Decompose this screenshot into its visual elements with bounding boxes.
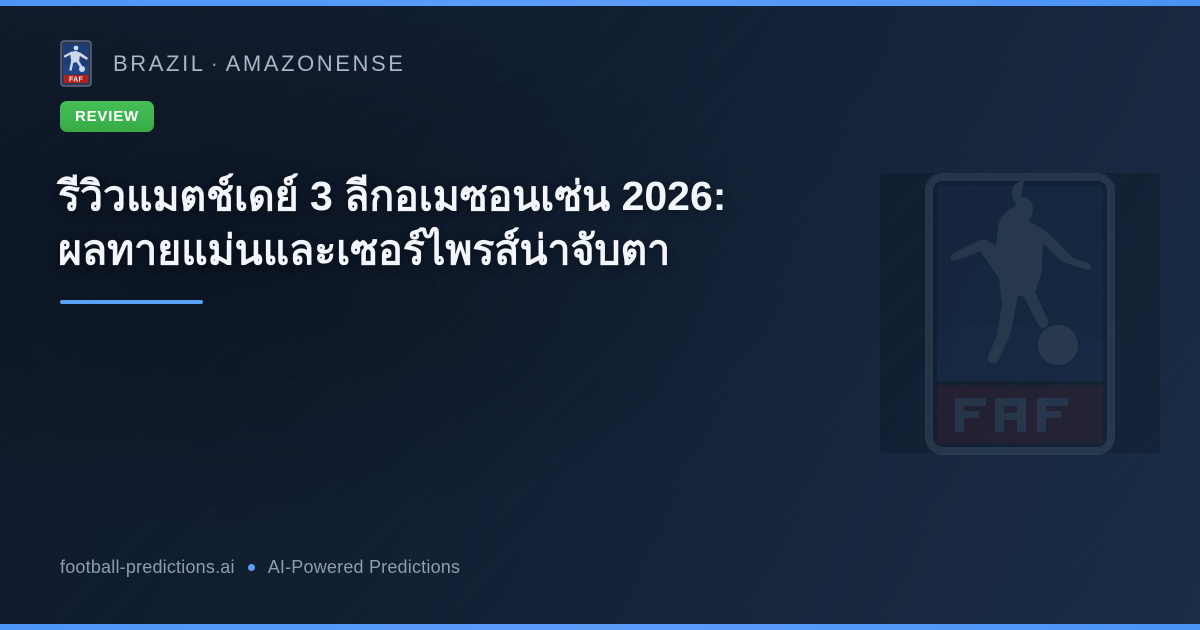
status-badge: REVIEW (60, 101, 154, 132)
dot-separator-icon (248, 564, 255, 571)
footer-tagline: AI-Powered Predictions (268, 557, 461, 578)
page-title-line-1: รีวิวแมตช์เดย์ 3 ลีกอเมซอนเซ่น 2026: (58, 169, 858, 223)
breadcrumb-competition: AMAZONENSE (226, 51, 406, 76)
breadcrumb-label: BRAZIL·AMAZONENSE (113, 51, 406, 77)
page-title-line-2: ผลทายแม่นและเซอร์ไพรส์น่าจับตา (58, 223, 858, 277)
top-accent-bar (0, 0, 1200, 6)
breadcrumb-country: BRAZIL (113, 51, 206, 76)
bottom-accent-bar (0, 624, 1200, 630)
footer: football-predictions.ai AI-Powered Predi… (60, 557, 460, 578)
title-accent-rule (60, 300, 203, 304)
social-share-card: FAF BRAZIL·AMAZONENSE REVIEW รีวิวแมตช์เ… (0, 0, 1200, 630)
page-title: รีวิวแมตช์เดย์ 3 ลีกอเมซอนเซ่น 2026: ผลท… (58, 169, 858, 277)
faf-crest-watermark-icon (925, 173, 1115, 455)
svg-text:FAF: FAF (69, 77, 84, 84)
footer-site-name: football-predictions.ai (60, 557, 235, 578)
status-badge-label: REVIEW (75, 108, 139, 125)
breadcrumb-separator: · (206, 51, 226, 76)
breadcrumb: FAF BRAZIL·AMAZONENSE (60, 40, 406, 87)
faf-crest-icon: FAF (60, 40, 92, 87)
